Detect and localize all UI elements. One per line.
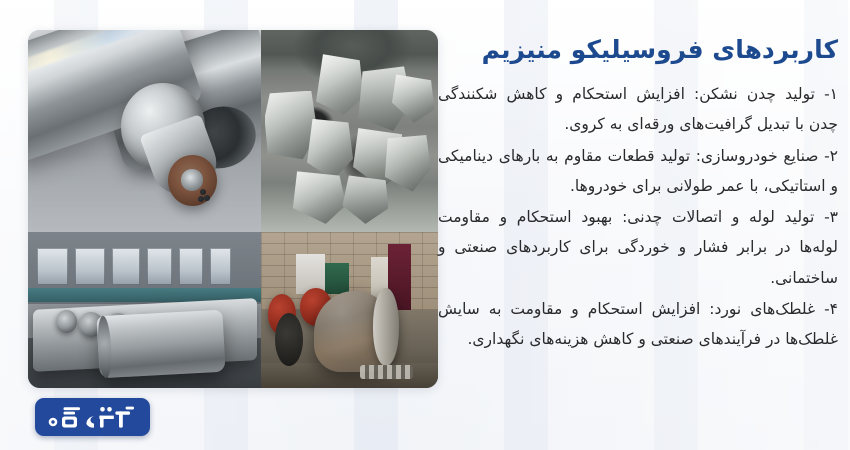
hall-window [37,248,67,285]
lump-shape [307,119,353,180]
hub-bolt [198,196,204,202]
text-column: کاربردهای فروسیلیکو منیزیم ۱- تولید چدن … [438,34,838,355]
photo-rolling-mill-hall [28,232,261,388]
hall-window [75,248,105,285]
photo-ferrosilicon-magnesium-lumps [261,30,438,232]
hub-bolt [200,189,206,195]
lump-shape [314,54,364,115]
bolt-row [360,365,413,379]
lump-shape [293,171,346,224]
application-item-2: ۲- صنایع خودروسازی: تولید قطعات مقاوم به… [438,141,838,201]
application-item-1: ۱- تولید چدن نشکن: افزایش استحکام و کاهش… [438,79,838,139]
lump-shape [385,135,431,192]
photo-steel-mill-roll [28,30,261,232]
photo-cast-iron-pipe-fittings [261,232,438,388]
application-item-4: ۴- غلطک‌های نورد: افزایش استحکام و مقاوم… [438,294,838,354]
hall-window [112,248,140,285]
brand-logo-badge[interactable] [35,398,150,436]
hall-window [147,248,173,285]
wall-panel [325,263,350,294]
applications-list: ۱- تولید چدن نشکن: افزایش استحکام و کاهش… [438,79,838,354]
roll-foreground [96,310,225,379]
ahangah-logo-icon [47,405,139,429]
hall-window [179,248,202,285]
roll-hub [168,155,217,206]
hub-bolt [204,195,210,201]
page-title: کاربردهای فروسیلیکو منیزیم [438,34,838,65]
pipe-opening [275,313,303,366]
lump-shape [342,175,388,223]
hall-window [210,248,231,285]
application-item-3: ۳- تولید لوله و اتصالات چدنی: بهبود استح… [438,202,838,293]
poster-canvas: کاربردهای فروسیلیکو منیزیم ۱- تولید چدن … [0,0,850,450]
image-collage [28,30,438,388]
pipe-flange-face [373,288,400,366]
